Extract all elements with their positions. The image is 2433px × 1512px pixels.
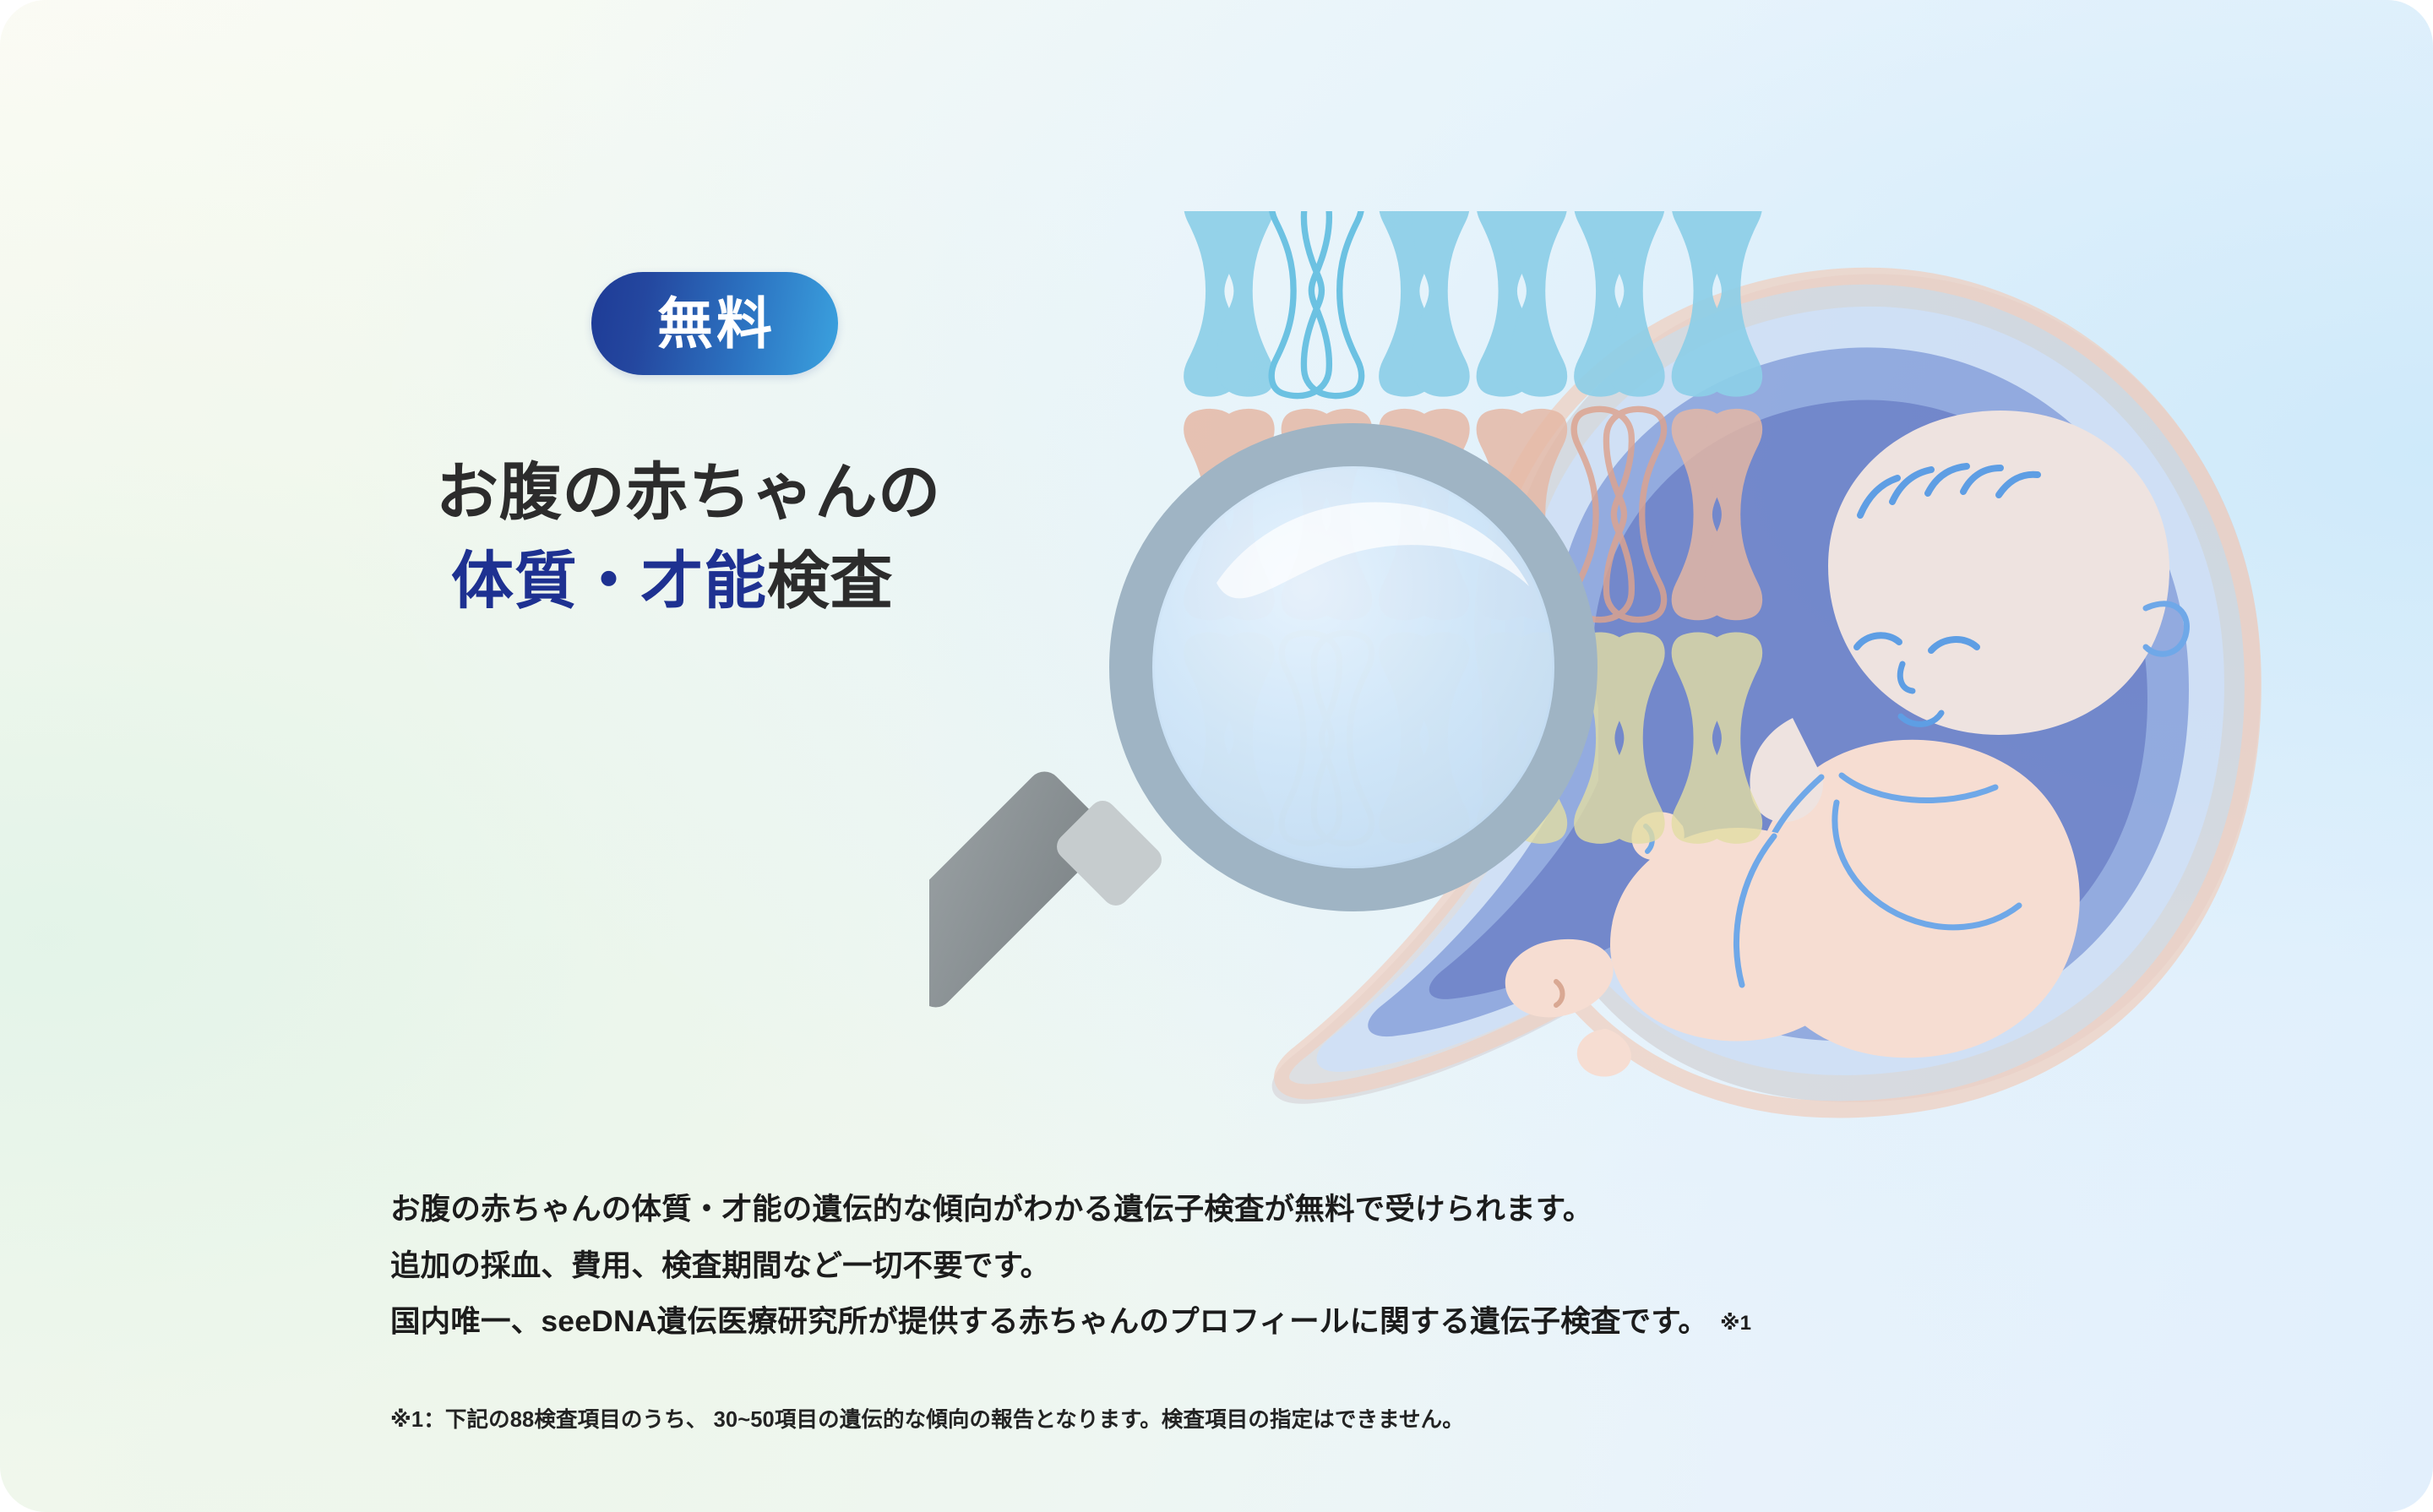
description-block: お腹の赤ちゃんの体質・才能の遺伝的な傾向がわかる遺伝子検査が無料で受けられます。…: [390, 1181, 2097, 1350]
description-line-3: 国内唯一、seeDNA遺伝医療研究所が提供する赤ちゃんのプロフィールに関する遺伝…: [390, 1293, 2097, 1350]
free-badge-label: 無料: [654, 296, 776, 351]
headline-line-2-suffix: 検査: [767, 546, 893, 616]
footnote-text: ※1：下記の88検査項目のうち、 30~50項目の遺伝的な傾向の報告となります。…: [390, 1408, 1464, 1432]
page-title: お腹の赤ちゃんの 体質・才能検査: [429, 448, 1105, 625]
headline-line-2: 体質・才能検査: [429, 536, 1105, 625]
footnote: ※1：下記の88検査項目のうち、 30~50項目の遺伝的な傾向の報告となります。…: [390, 1402, 2097, 1433]
headline-highlight: 体質・才能: [451, 546, 767, 616]
description-line-1: お腹の赤ちゃんの体質・才能の遺伝的な傾向がわかる遺伝子検査が無料で受けられます。: [390, 1181, 2097, 1237]
footnote-marker: ※1: [1720, 1312, 1751, 1335]
description-line-2: 追加の採血、費用、検査期間など一切不要です。: [390, 1237, 2097, 1294]
chromosome-row-blue: [1184, 211, 1762, 396]
free-badge: 無料: [591, 272, 838, 375]
promo-card: 無料 お腹の赤ちゃんの 体質・才能検査 お腹の赤ちゃんの体質・才能の遺伝的な傾向…: [0, 0, 2433, 1512]
fetus-chromosome-magnifier-illustration: [929, 211, 2365, 1157]
headline-line-1: お腹の赤ちゃんの: [429, 448, 1105, 536]
description-line-3-text: 国内唯一、seeDNA遺伝医療研究所が提供する赤ちゃんのプロフィールに関する遺伝…: [390, 1304, 1708, 1338]
